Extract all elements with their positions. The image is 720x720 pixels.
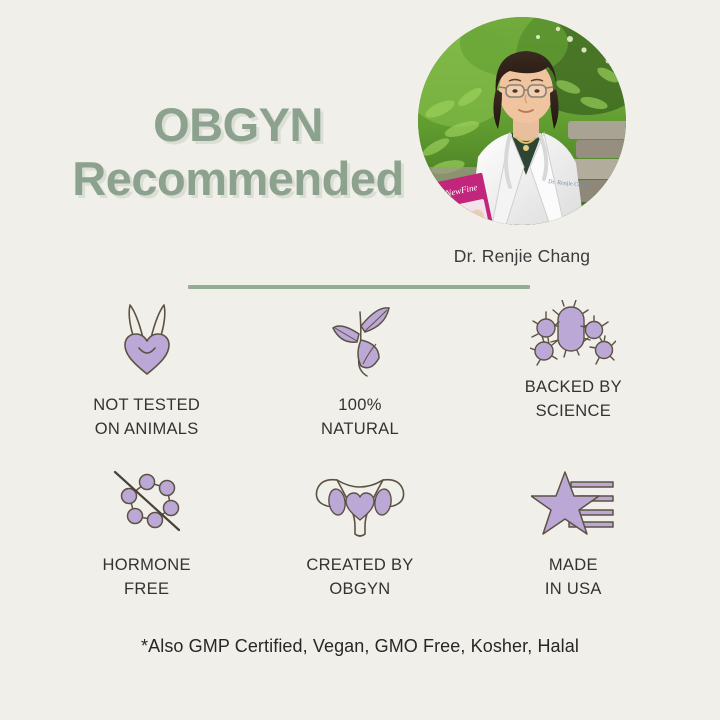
no-hormone-molecule-icon — [107, 468, 187, 540]
star-stripes-icon — [531, 468, 615, 540]
badge-backed-by-science: BACKED BY SCIENCE — [467, 300, 680, 468]
badge-label-line-1: 100% — [321, 394, 399, 418]
badge-label-line-2: IN USA — [545, 578, 602, 602]
badge-icon-wrap — [531, 468, 615, 540]
badge-hormone-free: HORMONE FREE — [40, 468, 253, 633]
badge-label-line-1: HORMONE — [103, 554, 191, 578]
badge-grid: NOT TESTED ON ANIMALS — [40, 300, 680, 633]
section-divider — [188, 285, 530, 289]
badge-not-tested-on-animals: NOT TESTED ON ANIMALS — [40, 300, 253, 468]
badge-label-line-2: FREE — [103, 578, 191, 602]
doctor-portrait-photo: Dr. Renjie Chang NewFine — [418, 17, 626, 225]
badge-label: NOT TESTED ON ANIMALS — [93, 394, 200, 442]
doctor-name-caption: Dr. Renjie Chang — [402, 246, 642, 267]
badge-label-line-1: BACKED BY — [525, 376, 622, 400]
badge-icon-wrap — [530, 300, 616, 366]
badge-label: 100% NATURAL — [321, 394, 399, 442]
badge-row-top: NOT TESTED ON ANIMALS — [40, 300, 680, 468]
promo-panel: OBGYN Recommended — [0, 0, 720, 720]
badge-label: CREATED BY OBGYN — [306, 554, 413, 602]
badge-created-by-obgyn: CREATED BY OBGYN — [253, 468, 466, 633]
badge-100-natural: 100% NATURAL — [253, 300, 466, 468]
badge-icon-wrap — [321, 300, 399, 380]
footnote-certifications: *Also GMP Certified, Vegan, GMO Free, Ko… — [0, 636, 720, 657]
badge-label-line-1: NOT TESTED — [93, 394, 200, 418]
badge-label-line-2: ON ANIMALS — [93, 418, 200, 442]
badge-row-bottom: HORMONE FREE — [40, 468, 680, 633]
bunny-heart-icon — [110, 300, 184, 380]
badge-label: BACKED BY SCIENCE — [525, 376, 622, 424]
badge-label: MADE IN USA — [545, 554, 602, 602]
badge-label-line-2: SCIENCE — [525, 400, 622, 424]
badge-icon-wrap — [305, 468, 415, 540]
badge-icon-wrap — [107, 468, 187, 540]
uterus-heart-icon — [305, 468, 415, 540]
leaf-sprig-icon — [321, 300, 399, 380]
badge-label-line-1: CREATED BY — [306, 554, 413, 578]
page-title-line-1: OBGYN — [58, 98, 418, 152]
badge-label: HORMONE FREE — [103, 554, 191, 602]
badge-made-in-usa: MADE IN USA — [467, 468, 680, 633]
portrait-illustration: Dr. Renjie Chang NewFine — [418, 17, 626, 225]
microbe-icon — [530, 300, 616, 366]
badge-label-line-2: NATURAL — [321, 418, 399, 442]
page-title-line-2: Recommended — [58, 152, 418, 206]
badge-icon-wrap — [110, 300, 184, 380]
page-title: OBGYN Recommended — [58, 98, 418, 205]
badge-label-line-2: OBGYN — [306, 578, 413, 602]
badge-label-line-1: MADE — [545, 554, 602, 578]
